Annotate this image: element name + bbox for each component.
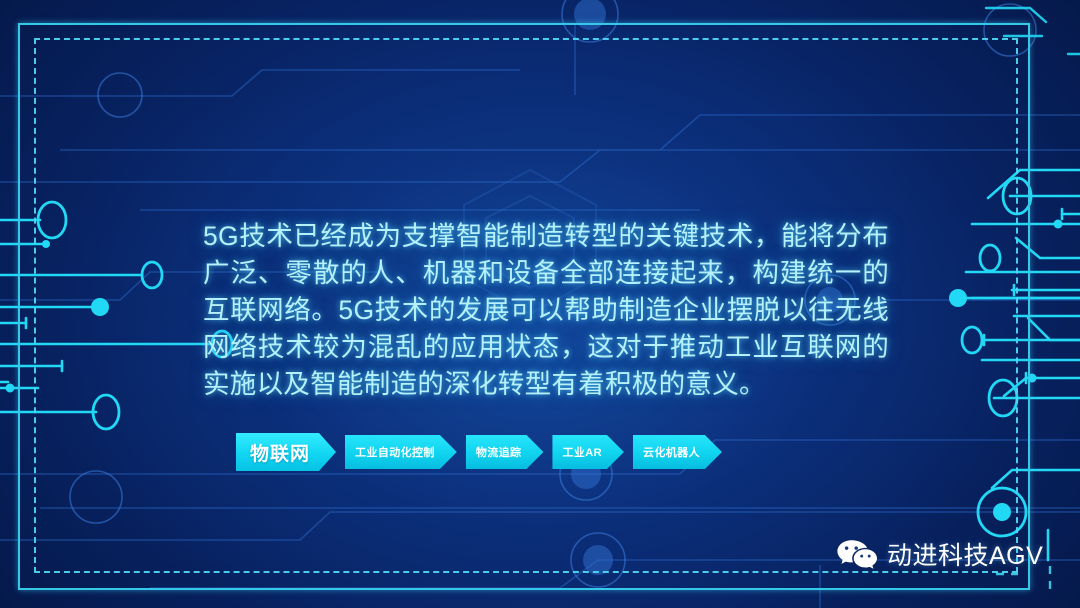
technology-tag-row: 物联网 工业自动化控制 物流追踪 工业AR 云化机器人 [236,433,722,471]
watermark-label: 动进科技AGV [887,536,1043,572]
tag-item-logistics-tracking[interactable]: 物流追踪 [466,435,544,469]
tag-label: 工业AR [552,444,624,460]
tag-label: 工业自动化控制 [345,444,457,460]
wechat-icon [836,538,878,570]
tag-item-cloud-robot[interactable]: 云化机器人 [633,435,722,469]
tag-item-iot[interactable]: 物联网 [236,433,336,471]
tag-label: 物联网 [236,439,336,466]
tag-label: 云化机器人 [633,444,722,460]
tag-item-industrial-ar[interactable]: 工业AR [552,435,624,469]
tag-label: 物流追踪 [466,444,544,460]
watermark: 动进科技AGV [836,536,1043,572]
slide-canvas: 5G技术已经成为支撑智能制造转型的关键技术，能将分布广泛、零散的人、机器和设备全… [0,0,1080,608]
tag-item-industrial-automation[interactable]: 工业自动化控制 [345,435,457,469]
body-paragraph: 5G技术已经成为支撑智能制造转型的关键技术，能将分布广泛、零散的人、机器和设备全… [203,218,889,403]
